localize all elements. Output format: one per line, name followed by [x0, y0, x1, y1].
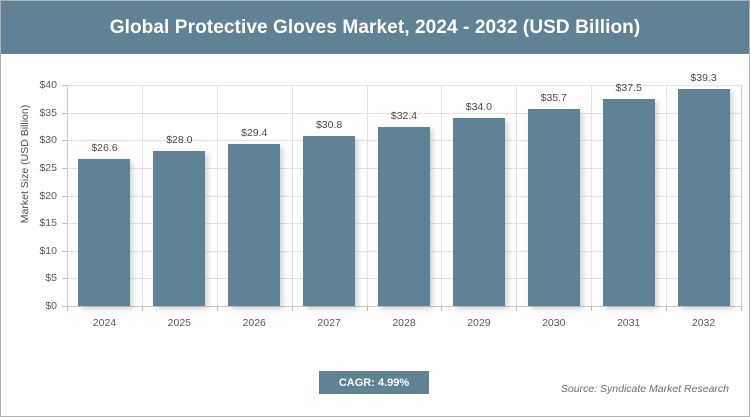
x-tick-mark: [516, 306, 517, 311]
bar-value-label: $29.4: [214, 127, 294, 139]
x-tick-label-2027: 2027: [289, 317, 369, 329]
bar-value-label: $39.3: [664, 72, 744, 84]
bar-2032: [678, 89, 730, 306]
x-tick-label-2024: 2024: [64, 317, 144, 329]
plot-area: $0$5$10$15$20$25$30$35$40$26.62024$28.02…: [67, 85, 741, 306]
x-tick-label-2028: 2028: [364, 317, 444, 329]
plot-wrapper: Market Size (USD Billion) $0$5$10$15$20$…: [1, 54, 749, 359]
x-tick-mark: [142, 306, 143, 311]
x-tick-label-2025: 2025: [139, 317, 219, 329]
x-tick-mark: [741, 306, 742, 311]
x-tick-label-2029: 2029: [439, 317, 519, 329]
bar-value-label: $37.5: [589, 82, 669, 94]
bar-2025: [153, 151, 205, 306]
y-tick-label: $5: [0, 272, 57, 284]
category-separator: [516, 85, 517, 306]
bar-2029: [453, 118, 505, 306]
x-tick-mark: [666, 306, 667, 311]
x-tick-mark: [441, 306, 442, 311]
chart-header: Global Protective Gloves Market, 2024 - …: [1, 1, 749, 54]
bar-value-label: $28.0: [139, 134, 219, 146]
y-tick-label: $15: [0, 217, 57, 229]
y-tick-label: $30: [0, 134, 57, 146]
y-tick-label: $10: [0, 245, 57, 257]
bar-2030: [528, 109, 580, 306]
y-tick-label: $0: [0, 300, 57, 312]
bar-value-label: $32.4: [364, 110, 444, 122]
y-tick-label: $35: [0, 107, 57, 119]
x-tick-label-2032: 2032: [664, 317, 744, 329]
x-tick-mark: [292, 306, 293, 311]
bar-value-label: $35.7: [514, 92, 594, 104]
chart-figure: Global Protective Gloves Market, 2024 - …: [0, 0, 750, 417]
cagr-badge-label: CAGR: 4.99%: [339, 377, 409, 389]
bar-2024: [78, 159, 130, 306]
x-tick-mark: [367, 306, 368, 311]
bar-2027: [303, 136, 355, 306]
bar-value-label: $34.0: [439, 101, 519, 113]
x-tick-label-2030: 2030: [514, 317, 594, 329]
x-tick-mark: [591, 306, 592, 311]
y-gridline: [67, 306, 741, 307]
bar-value-label: $26.6: [64, 142, 144, 154]
x-tick-mark: [67, 306, 68, 311]
bar-2026: [228, 144, 280, 306]
page-title: Global Protective Gloves Market, 2024 - …: [110, 17, 641, 39]
bar-2031: [603, 99, 655, 306]
category-separator: [591, 85, 592, 306]
x-tick-mark: [217, 306, 218, 311]
source-note: Source: Syndicate Market Research: [561, 383, 729, 395]
bar-2028: [378, 127, 430, 306]
y-tick-label: $40: [0, 79, 57, 91]
y-tick-label: $20: [0, 190, 57, 202]
x-tick-label-2026: 2026: [214, 317, 294, 329]
x-tick-label-2031: 2031: [589, 317, 669, 329]
category-separator: [142, 85, 143, 306]
category-separator: [217, 85, 218, 306]
category-separator: [741, 85, 742, 306]
cagr-badge: CAGR: 4.99%: [319, 371, 429, 394]
bar-value-label: $30.8: [289, 119, 369, 131]
category-separator: [67, 85, 68, 306]
category-separator: [666, 85, 667, 306]
y-tick-label: $25: [0, 162, 57, 174]
